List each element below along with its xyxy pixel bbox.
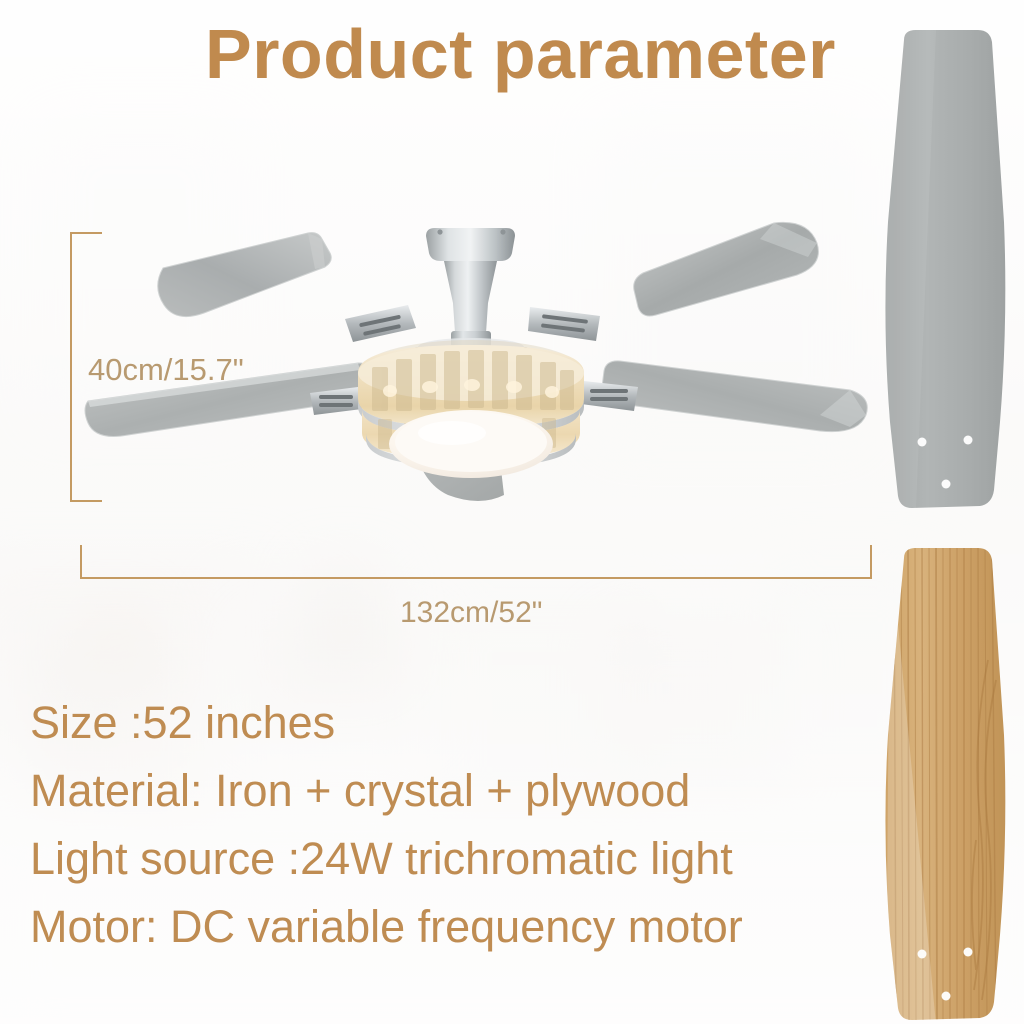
width-dimension-bracket bbox=[80, 545, 872, 579]
crystal-light-fixture bbox=[358, 340, 584, 478]
spec-item-size: Size :52 inches bbox=[30, 700, 880, 745]
spec-item-material: Material: Iron + crystal + plywood bbox=[30, 768, 880, 813]
fan-blade-upper-right bbox=[634, 222, 819, 316]
width-dimension-label: 132cm/52" bbox=[400, 596, 542, 630]
grey-blade-sample bbox=[876, 22, 1016, 516]
product-parameter-infographic: Product parameter 40cm/15.7" 132cm/52" bbox=[0, 0, 1024, 1024]
page-title: Product parameter bbox=[205, 18, 836, 92]
spec-item-light-source: Light source :24W trichromatic light bbox=[30, 836, 880, 881]
spec-list: Size :52 inches Material: Iron + crystal… bbox=[30, 700, 880, 949]
spec-item-motor: Motor: DC variable frequency motor bbox=[30, 904, 880, 949]
fan-blade-upper-left bbox=[158, 233, 331, 317]
wood-blade-sample bbox=[876, 540, 1016, 1024]
fan-blade-middle-right bbox=[602, 361, 868, 432]
ceiling-fan-image bbox=[60, 195, 890, 525]
